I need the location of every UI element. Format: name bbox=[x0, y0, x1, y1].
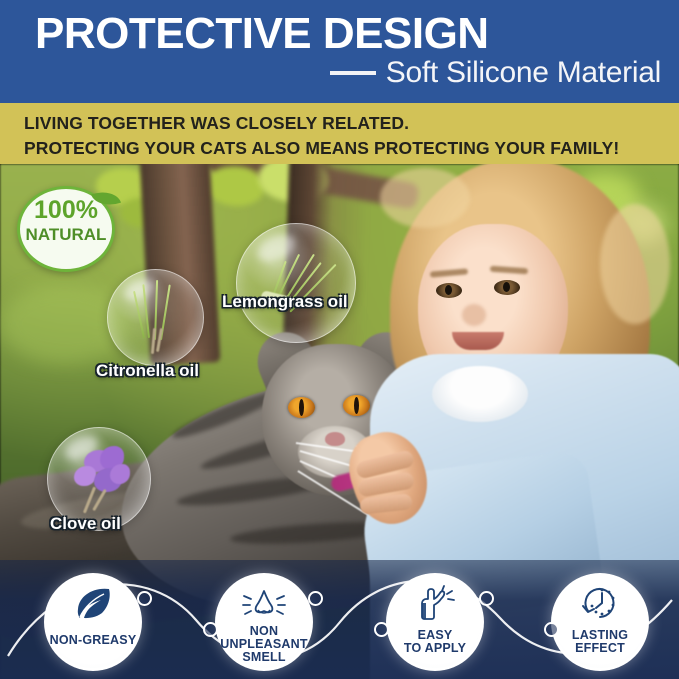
clock-icon bbox=[551, 582, 649, 624]
snap-fingers-icon bbox=[386, 582, 484, 624]
leaf-icon bbox=[44, 582, 142, 624]
badge-label: NON-GREASY bbox=[44, 634, 142, 647]
girl-eye bbox=[436, 283, 462, 298]
clove-flower-icon bbox=[110, 464, 130, 484]
badge-label: EASY TO APPLY bbox=[386, 629, 484, 655]
product-infographic: PROTECTIVE DESIGN Soft Silicone Material… bbox=[0, 0, 679, 679]
connector-node bbox=[374, 622, 389, 637]
ingredient-label-citronella: Citronella oil bbox=[96, 361, 199, 381]
badge-label-line: NON-GREASY bbox=[44, 634, 142, 647]
feature-badge-non-unpleasant-smell[interactable]: NON UNPLEASANT SMELL bbox=[215, 573, 313, 671]
foliage bbox=[206, 166, 264, 206]
em-dash-icon bbox=[330, 71, 376, 75]
page-title: PROTECTIVE DESIGN bbox=[35, 12, 489, 56]
ingredient-label-lemongrass: Lemongrass oil bbox=[222, 292, 348, 312]
badge-label-line: NON bbox=[215, 625, 313, 638]
connector-node bbox=[137, 591, 152, 606]
citronella-stem bbox=[156, 328, 163, 352]
bubble-highlight bbox=[253, 228, 299, 266]
clove-flower-icon bbox=[74, 466, 96, 486]
girl-nose bbox=[462, 304, 486, 326]
tagline-banner: LIVING TOGETHER WAS CLOSELY RELATED. PRO… bbox=[0, 103, 679, 164]
feature-badge-easy-to-apply[interactable]: EASY TO APPLY bbox=[386, 573, 484, 671]
badge-label-line: TO APPLY bbox=[386, 642, 484, 655]
coat-collar bbox=[432, 366, 528, 422]
cat-eye bbox=[343, 395, 370, 416]
hair-strands bbox=[380, 168, 470, 228]
header-subtitle-group: Soft Silicone Material bbox=[330, 58, 661, 88]
badge-label: LASTING EFFECT bbox=[551, 629, 649, 655]
connector-node bbox=[308, 591, 323, 606]
badge-label-line: UNPLEASANT bbox=[215, 638, 313, 651]
ingredient-bubble-citronella bbox=[107, 269, 204, 366]
feature-badge-lasting-effect[interactable]: LASTING EFFECT bbox=[551, 573, 649, 671]
bubble-highlight bbox=[121, 274, 158, 305]
clove-stem bbox=[92, 489, 107, 511]
tagline-line-2: PROTECTING YOUR CATS ALSO MEANS PROTECTI… bbox=[24, 138, 619, 159]
connector-node bbox=[544, 622, 559, 637]
hair-strands bbox=[600, 204, 670, 324]
badge-label: NON UNPLEASANT SMELL bbox=[215, 625, 313, 664]
header-banner: PROTECTIVE DESIGN Soft Silicone Material bbox=[0, 0, 679, 103]
badge-label-line: SMELL bbox=[215, 651, 313, 664]
feature-badge-strip: NON-GREASY NON UNPLEASANT SMELL bbox=[0, 560, 679, 679]
connector-node bbox=[479, 591, 494, 606]
ingredient-label-clove: Clove oil bbox=[50, 514, 121, 534]
natural-badge: 100% NATURAL bbox=[17, 186, 115, 272]
badge-label-line: LASTING bbox=[551, 629, 649, 642]
natural-percent: 100% bbox=[17, 198, 115, 223]
badge-label-line: EFFECT bbox=[551, 642, 649, 655]
nose-icon bbox=[215, 582, 313, 624]
tagline-line-1: LIVING TOGETHER WAS CLOSELY RELATED. bbox=[24, 113, 409, 134]
header-subtitle: Soft Silicone Material bbox=[386, 58, 661, 88]
feature-badge-non-greasy[interactable]: NON-GREASY bbox=[44, 573, 142, 671]
connector-node bbox=[203, 622, 218, 637]
cat-nose bbox=[325, 432, 345, 446]
natural-label: NATURAL bbox=[17, 226, 115, 243]
girl-eye bbox=[494, 280, 520, 295]
badge-label-line: EASY bbox=[386, 629, 484, 642]
ingredient-bubble-lemongrass bbox=[236, 223, 356, 343]
cat-eye bbox=[288, 397, 315, 418]
